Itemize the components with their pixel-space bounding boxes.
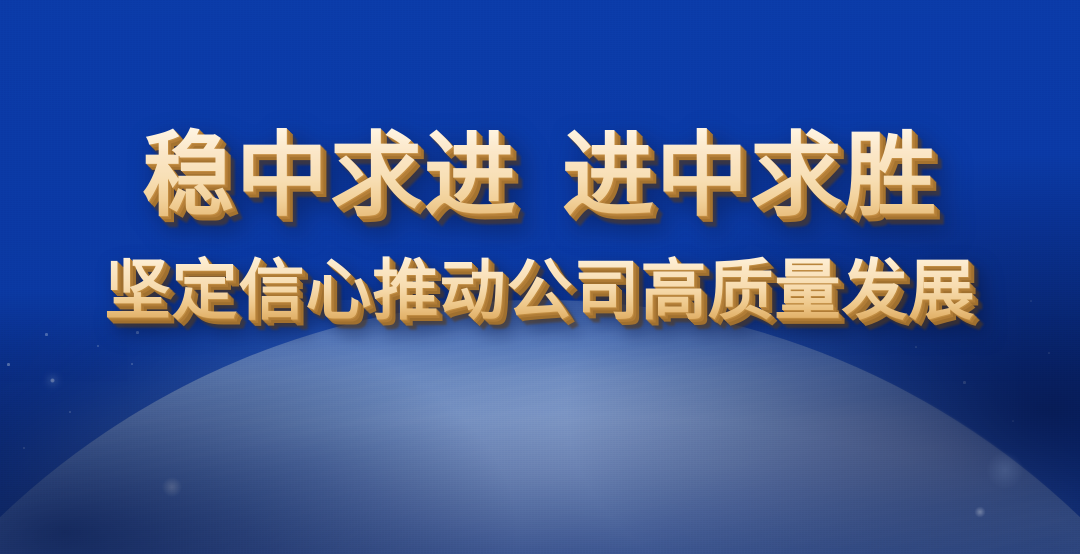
poster-banner: 稳中求进进中求胜 坚定信心推动公司高质量发展 bbox=[0, 0, 1080, 554]
earth-globe-icon bbox=[0, 300, 1080, 554]
earth-shadow bbox=[0, 300, 1080, 554]
headline: 稳中求进进中求胜 bbox=[0, 126, 1080, 226]
earth-sphere bbox=[0, 300, 1080, 554]
headline-phrase-2: 进中求胜 bbox=[562, 126, 938, 226]
headline-phrase-1: 稳中求进 bbox=[142, 126, 518, 226]
